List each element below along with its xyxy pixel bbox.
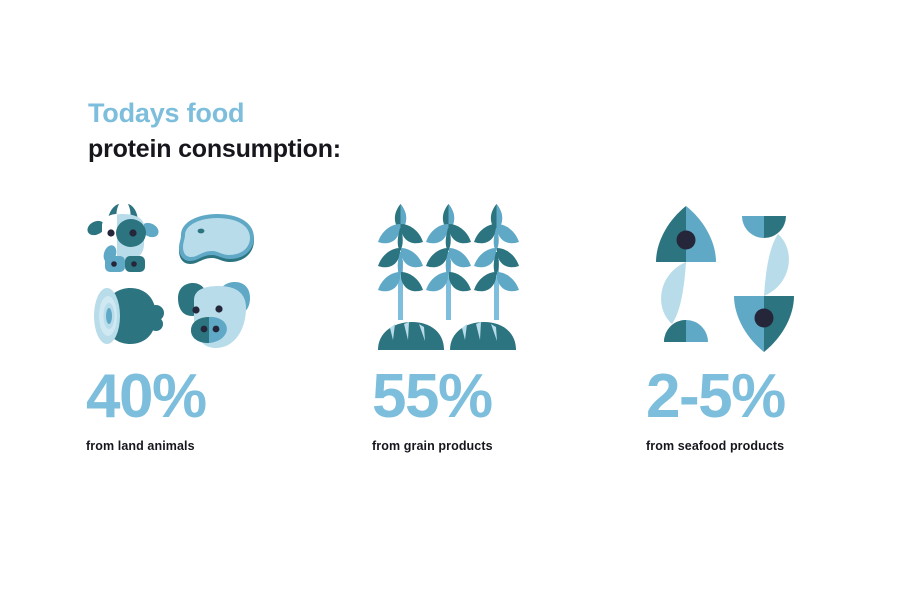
stat-block-grain-products: 55% from grain products	[372, 200, 622, 453]
stat-value: 2-5%	[646, 366, 896, 428]
page-title: Todays food protein consumption:	[88, 100, 341, 162]
ham-icon	[94, 288, 164, 344]
stat-block-seafood-products: 2-5% from seafood products	[646, 200, 896, 453]
cow-head-icon	[85, 204, 161, 272]
stat-caption: from grain products	[372, 439, 622, 453]
title-line-2: protein consumption:	[88, 137, 341, 162]
grain-products-icon	[372, 200, 522, 360]
stat-value: 40%	[86, 366, 336, 428]
bread-loaf-icon	[378, 322, 444, 350]
fish-up-icon	[656, 206, 716, 344]
seafood-products-icon	[646, 200, 806, 360]
steak-icon	[179, 214, 254, 264]
stat-value: 55%	[372, 366, 622, 428]
infographic-canvas: Todays food protein consumption:	[0, 0, 900, 600]
pig-head-icon	[178, 282, 250, 348]
fish-down-icon	[734, 216, 794, 352]
wheat-stalk-icon	[378, 204, 423, 320]
stat-block-land-animals: 40% from land animals	[86, 200, 336, 453]
stat-caption: from land animals	[86, 439, 336, 453]
bread-loaf-icon	[450, 322, 516, 350]
title-line-1: Todays food	[88, 100, 341, 127]
wheat-stalk-icon	[474, 204, 519, 320]
wheat-stalk-icon	[426, 204, 471, 320]
stat-caption: from seafood products	[646, 439, 896, 453]
land-animals-icon	[86, 200, 261, 360]
